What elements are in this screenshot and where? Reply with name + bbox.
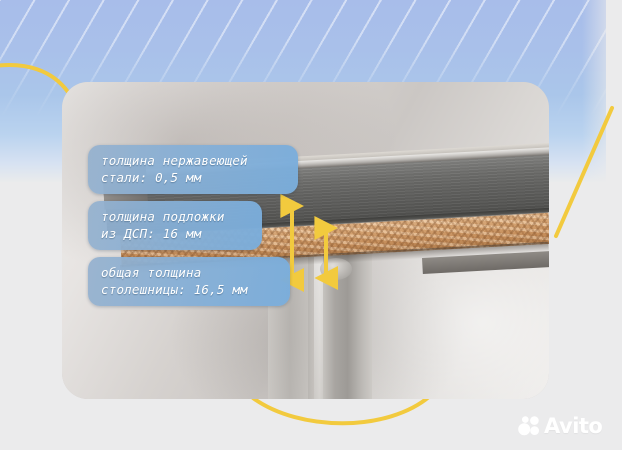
- avito-logo-icon: [518, 416, 540, 436]
- poster-canvas: толщина нержавеющей стали: 0,5 мм толщин…: [0, 0, 622, 450]
- banner-right-fade: [582, 0, 622, 182]
- label-chipboard-thickness: толщина подложки из ДСП: 16 мм: [88, 201, 262, 250]
- avito-watermark: Avito: [518, 412, 610, 440]
- label-total-thickness: общая толщина столешницы: 16,5 мм: [88, 257, 290, 306]
- label-steel-thickness: толщина нержавеющей стали: 0,5 мм: [88, 145, 298, 194]
- avito-wordmark: Avito: [544, 416, 602, 436]
